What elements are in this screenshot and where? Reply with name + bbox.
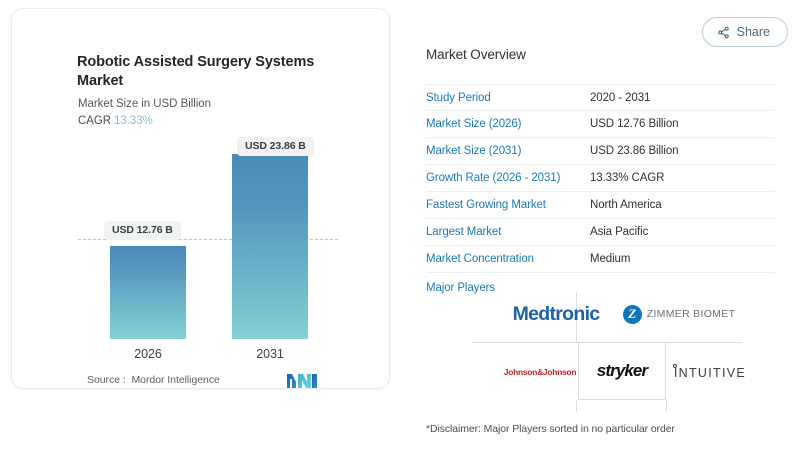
x-axis-label-2026: 2026	[110, 347, 186, 361]
table-row: Growth Rate (2026 - 2031) 13.33% CAGR	[426, 165, 775, 192]
share-button-label: Share	[737, 25, 770, 39]
row-label: Largest Market	[426, 226, 590, 238]
row-label: Market Size (2026)	[426, 118, 590, 130]
bar-2026[interactable]	[110, 246, 186, 339]
intuitive-logo-text: INTUITIVE	[674, 366, 746, 380]
intuitive-logo: INTUITIVE	[672, 362, 746, 384]
share-button[interactable]: Share	[702, 17, 788, 47]
zimmer-biomet-logo: Z ZIMMER BIOMET	[618, 300, 740, 328]
x-axis-label-2031: 2031	[232, 347, 308, 361]
bar-chart-plot: USD 12.76 B USD 23.86 B 2026 2031	[12, 9, 391, 390]
grid-divider	[472, 342, 578, 343]
chart-source: Source : Mordor Intelligence	[87, 374, 220, 386]
bar-label-2026: USD 12.76 B	[104, 221, 181, 240]
table-row: Fastest Growing Market North America	[426, 192, 775, 219]
chart-source-name: Mordor Intelligence	[131, 374, 219, 386]
row-value: 2020 - 2031	[590, 92, 650, 104]
row-label: Growth Rate (2026 - 2031)	[426, 172, 590, 184]
grid-divider	[576, 400, 577, 412]
intuitive-ring-icon	[673, 364, 677, 368]
row-value: Asia Pacific	[590, 226, 648, 238]
stryker-logo: stryker	[578, 342, 666, 400]
table-row: Market Concentration Medium	[426, 246, 775, 273]
chart-card: Robotic Assisted Surgery Systems Market …	[11, 8, 390, 389]
row-value: 13.33% CAGR	[590, 172, 664, 184]
medtronic-logo: Medtronic	[502, 296, 610, 332]
disclaimer-text: *Disclaimer: Major Players sorted in no …	[426, 423, 675, 435]
market-report-card: Share Robotic Assisted Surgery Systems M…	[0, 0, 800, 459]
bar-2031[interactable]	[232, 154, 308, 339]
row-label: Study Period	[426, 92, 590, 104]
row-label: Fastest Growing Market	[426, 199, 590, 211]
row-value: North America	[590, 199, 662, 211]
table-row: Study Period 2020 - 2031	[426, 84, 775, 111]
row-value: USD 23.86 Billion	[590, 145, 678, 157]
major-players-label: Major Players	[426, 282, 495, 294]
row-value: USD 12.76 Billion	[590, 118, 678, 130]
chart-source-label: Source :	[87, 374, 126, 386]
zimmer-biomet-text: ZIMMER BIOMET	[647, 308, 735, 320]
grid-divider	[666, 342, 742, 343]
bar-label-2031: USD 23.86 B	[237, 137, 314, 156]
major-players-logo-grid: Medtronic Z ZIMMER BIOMET Johnson&Johnso…	[492, 292, 742, 400]
mordor-intelligence-logo	[286, 373, 318, 389]
grid-divider	[666, 400, 667, 412]
stryker-logo-text: stryker	[597, 361, 647, 381]
table-row: Largest Market Asia Pacific	[426, 219, 775, 246]
share-icon	[717, 26, 730, 39]
market-overview-table: Study Period 2020 - 2031 Market Size (20…	[426, 84, 775, 273]
market-overview-title: Market Overview	[426, 47, 526, 62]
row-label: Market Concentration	[426, 253, 590, 265]
table-row: Market Size (2031) USD 23.86 Billion	[426, 138, 775, 165]
zimmer-z-mark: Z	[623, 305, 642, 324]
table-row: Market Size (2026) USD 12.76 Billion	[426, 111, 775, 138]
row-label: Market Size (2031)	[426, 145, 590, 157]
row-value: Medium	[590, 253, 630, 265]
johnson-and-johnson-logo: Johnson&Johnson	[492, 360, 588, 384]
